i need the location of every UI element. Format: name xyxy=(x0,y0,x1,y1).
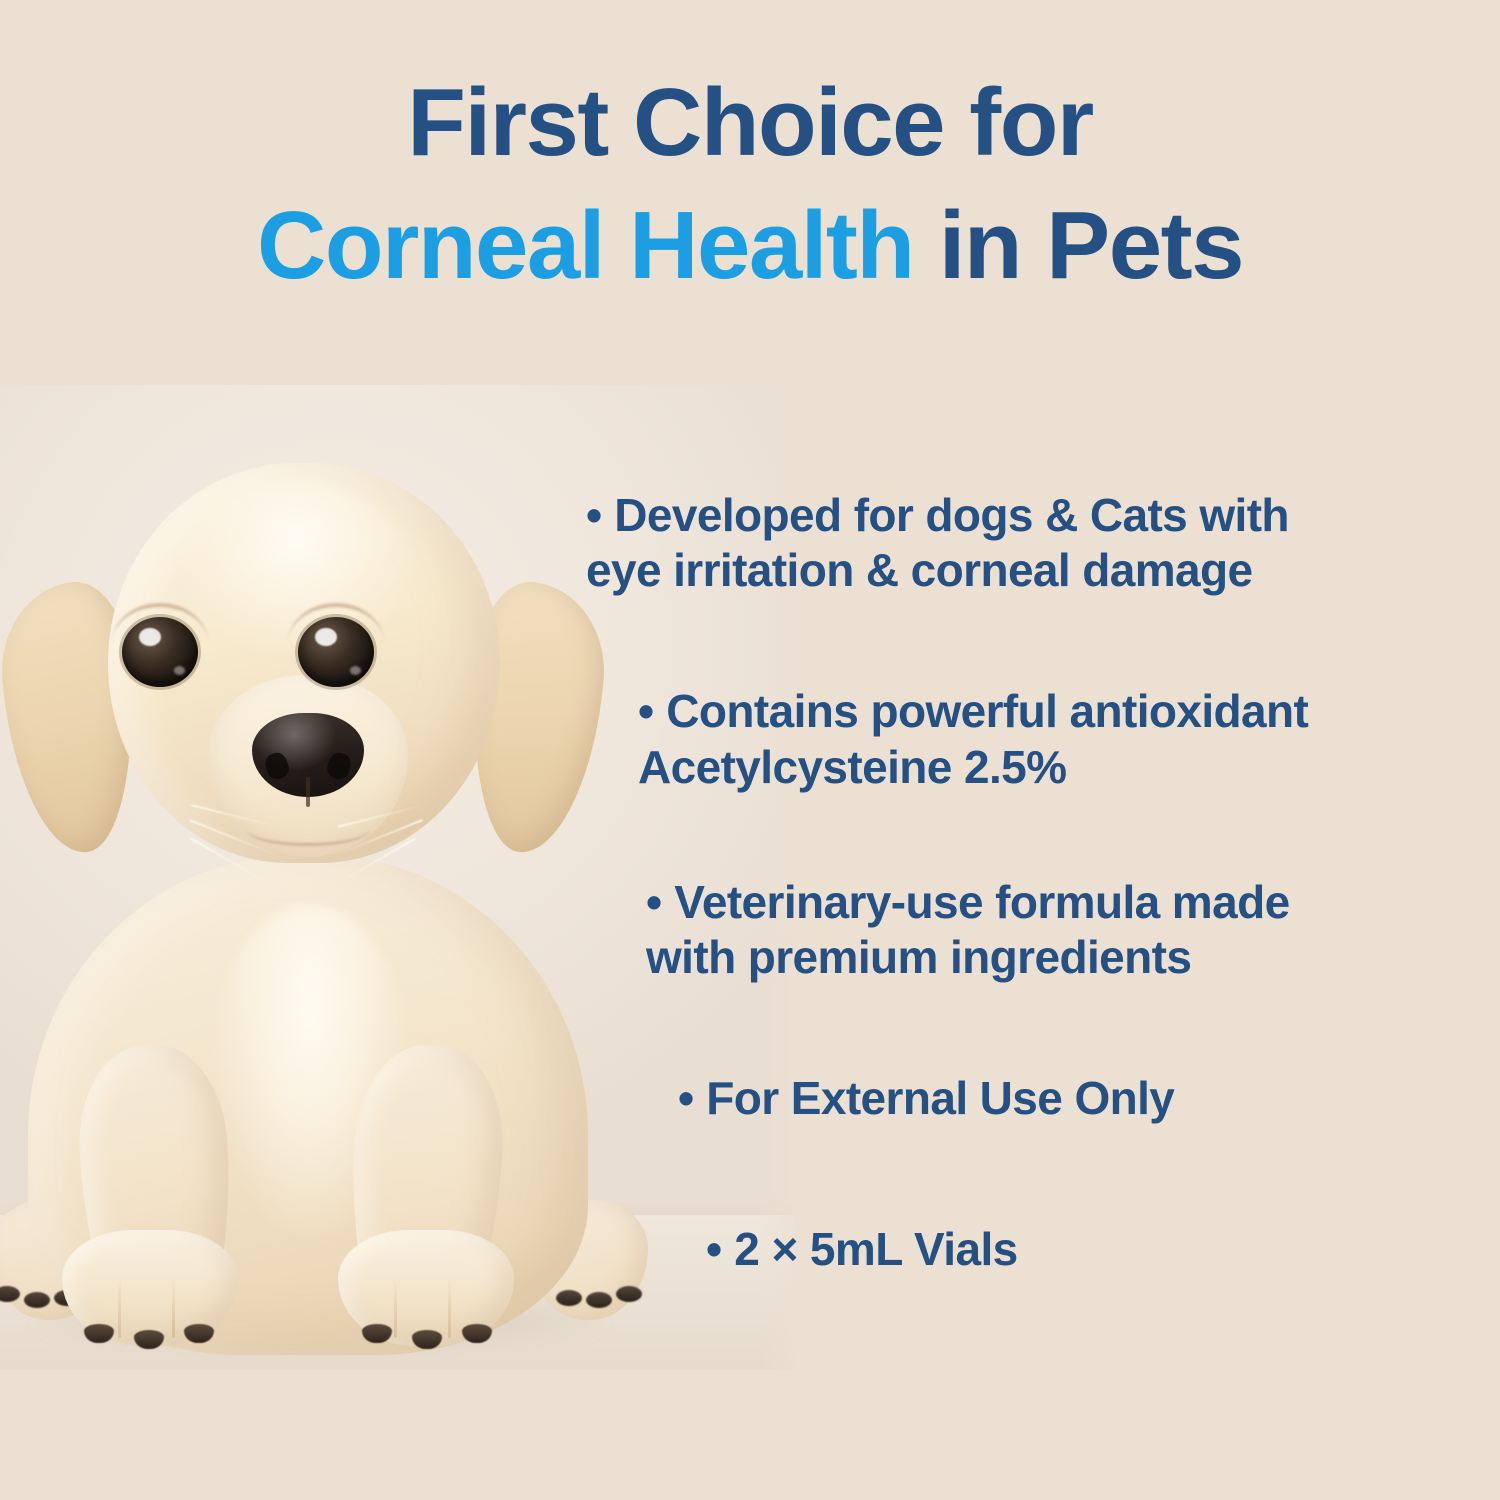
list-item: • 2 × 5mL Vials xyxy=(706,1222,1480,1277)
list-item-label: For External Use Only xyxy=(706,1072,1174,1124)
puppy-front-paw-right xyxy=(338,1230,514,1346)
puppy-eye-glint xyxy=(139,628,161,646)
bullet-marker-icon: • xyxy=(586,489,602,541)
headline-highlight-text: Corneal Health xyxy=(257,192,913,299)
bullet-marker-icon: • xyxy=(678,1072,694,1124)
puppy-eye-glint xyxy=(174,666,185,675)
list-item: • For External Use Only xyxy=(678,1071,1480,1126)
list-item: • Developed for dogs & Cats with eye irr… xyxy=(586,488,1480,598)
headline-line-2: Corneal Health in Pets xyxy=(0,185,1500,308)
puppy-eye-left xyxy=(122,617,198,687)
puppy-eye-glint xyxy=(315,628,337,646)
bullet-marker-icon: • xyxy=(706,1223,722,1275)
puppy-eye-right xyxy=(298,617,374,687)
list-item-label: Contains powerful antioxidant Acetylcyst… xyxy=(638,685,1308,792)
list-item-label: 2 × 5mL Vials xyxy=(734,1223,1017,1275)
page-title: First Choice for Corneal Health in Pets xyxy=(0,62,1500,308)
puppy-eye-glint xyxy=(350,666,361,675)
puppy-nostril-left xyxy=(263,750,291,781)
puppy-nose-cleft xyxy=(306,777,310,807)
product-infographic: First Choice for Corneal Health in Pets xyxy=(0,0,1500,1500)
list-item: • Contains powerful antioxidant Acetylcy… xyxy=(638,684,1480,794)
list-item-label: Developed for dogs & Cats with eye irrit… xyxy=(586,489,1289,596)
list-item-label: Veterinary-use formula made with premium… xyxy=(646,876,1290,983)
feature-bullet-list: • Developed for dogs & Cats with eye irr… xyxy=(560,488,1480,1278)
list-item: • Veterinary-use formula made with premi… xyxy=(646,875,1480,985)
headline-line-1-text: First Choice for xyxy=(407,69,1092,176)
headline-line-2-rest: in Pets xyxy=(914,192,1243,299)
puppy-front-paw-left xyxy=(62,1230,238,1346)
bullet-marker-icon: • xyxy=(638,685,654,737)
headline-line-1: First Choice for xyxy=(0,62,1500,185)
puppy-nostril-right xyxy=(325,750,353,781)
bullet-marker-icon: • xyxy=(646,876,662,928)
puppy-mouth xyxy=(246,813,370,846)
